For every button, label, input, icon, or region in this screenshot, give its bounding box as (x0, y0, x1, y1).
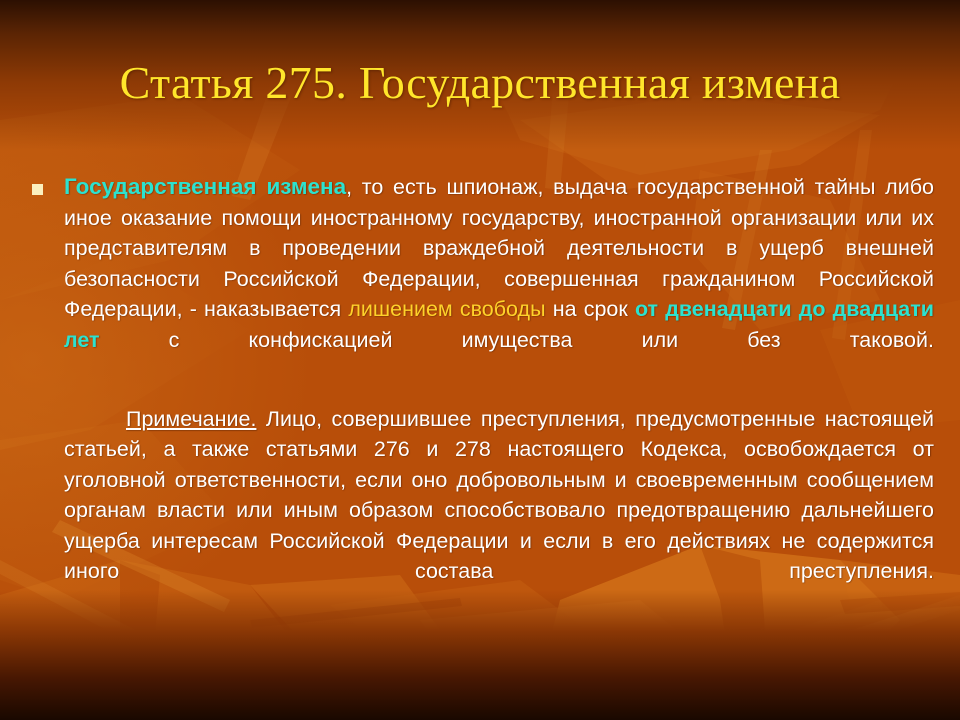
square-bullet-icon (32, 184, 43, 195)
run-highlight-deprivation: лишением свободы (348, 297, 545, 321)
slide-body: Государственная измена, то есть шпионаж,… (28, 172, 934, 617)
presentation-slide: Статья 275. Государственная измена Госуд… (0, 0, 960, 720)
paragraph-body-note: Примечание. Лицо, совершившее преступлен… (64, 404, 934, 618)
bullet-list-item: Государственная измена, то есть шпионаж,… (28, 172, 934, 386)
slide-title: Статья 275. Государственная измена (0, 58, 960, 109)
paragraph-body: Государственная измена, то есть шпионаж,… (64, 172, 934, 386)
paragraph-treason-definition: Государственная измена, то есть шпионаж,… (64, 172, 934, 386)
bullet-cell (28, 172, 64, 195)
paragraph-note: Примечание. Лицо, совершившее преступлен… (64, 404, 934, 618)
run-note-label: Примечание. (126, 407, 256, 431)
note-paragraph-row: Примечание. Лицо, совершившее преступлен… (28, 404, 934, 618)
run-note-text: Лицо, совершившее преступления, предусмо… (64, 407, 934, 584)
run-plain-2: на срок (546, 297, 635, 321)
bullet-cell-empty (28, 404, 64, 416)
run-plain-3: с конфискацией имущества или без таковой… (100, 328, 934, 352)
slide-title-block: Статья 275. Государственная измена (0, 58, 960, 109)
run-lead-term: Государственная измена (64, 174, 346, 199)
